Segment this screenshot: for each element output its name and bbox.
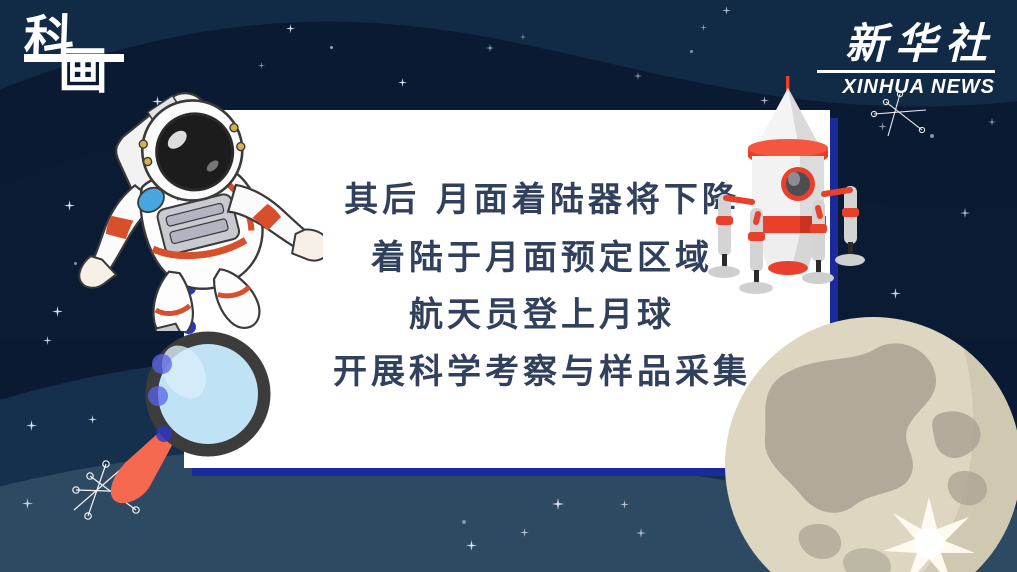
xinhua-divider	[817, 70, 995, 73]
moon-illustration	[723, 315, 1017, 572]
card-line-4: 开展科学考察与样品采集	[333, 354, 751, 391]
card-line-2: 着陆于月面预定区域	[371, 240, 713, 277]
astronaut-illustration	[78, 66, 323, 331]
magnifier-illustration	[110, 330, 290, 520]
star-dot	[690, 50, 693, 53]
star-dot	[330, 46, 333, 49]
star-dot	[74, 262, 77, 265]
card-line-3: 航天员登上月球	[409, 297, 675, 334]
lunar-lander-illustration	[700, 76, 875, 306]
card-line-1: 其后 月面着陆器将下降	[344, 182, 740, 219]
xinhua-chinese-text: 新华社	[817, 22, 995, 66]
star-dot	[462, 520, 466, 524]
slide-canvas: 科 画 新华社 XINHUA NEWS 其后 月面着陆器将下降 着陆于月面预定区…	[0, 0, 1017, 572]
